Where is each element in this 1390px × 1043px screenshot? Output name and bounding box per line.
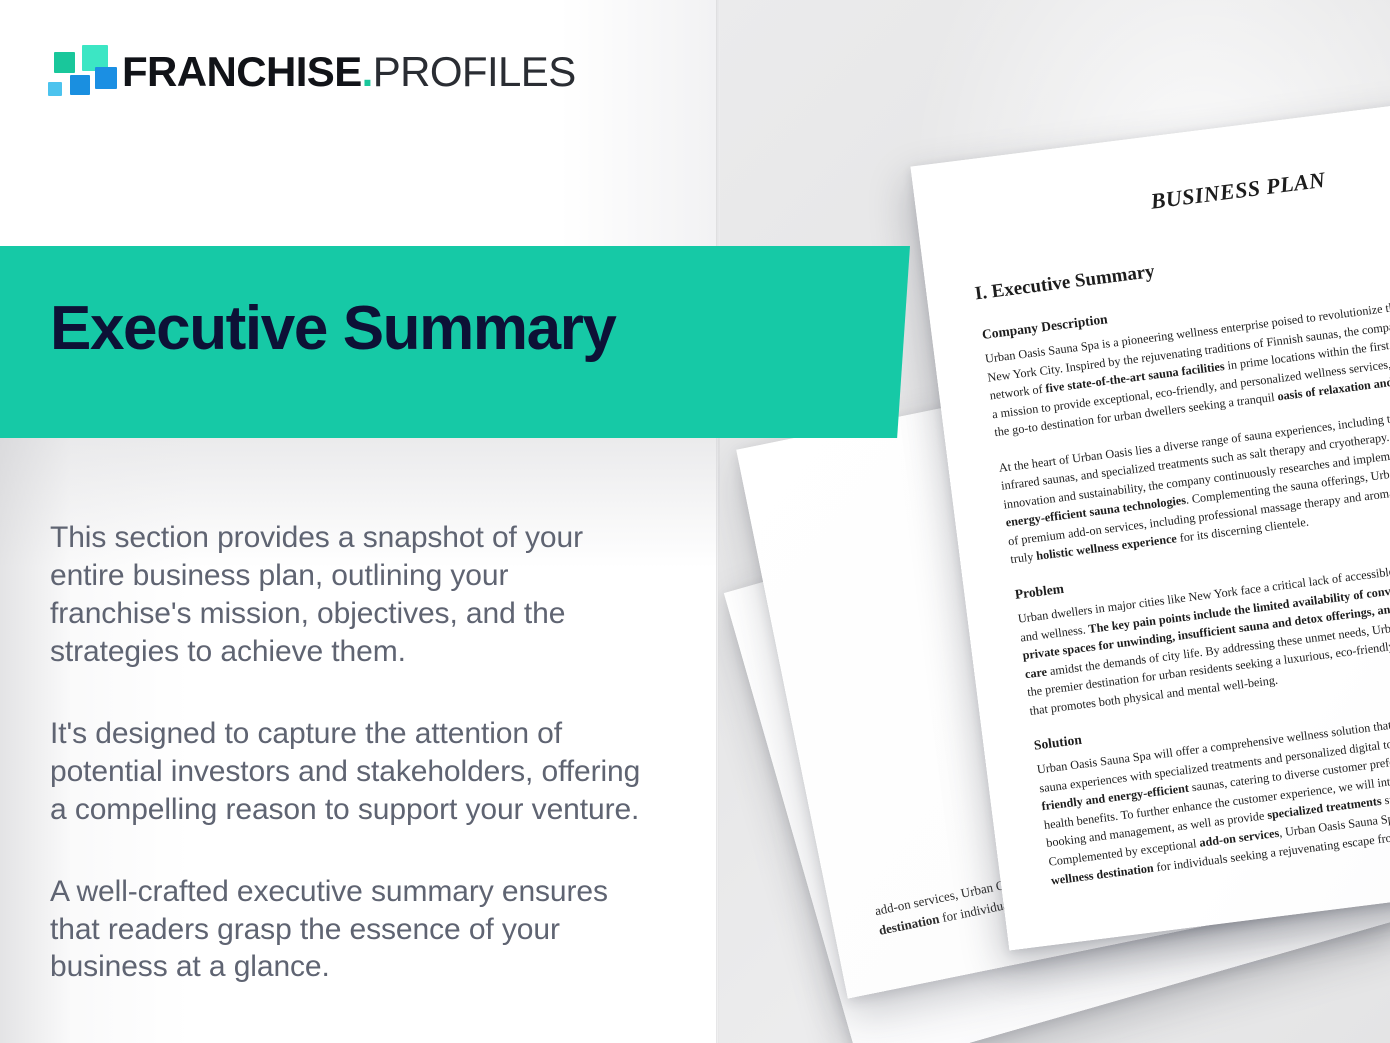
logo-square-1 bbox=[54, 52, 75, 73]
logo-squares-icon bbox=[46, 44, 106, 100]
logo-square-5 bbox=[95, 67, 117, 89]
document-title: BUSINESS PLAN bbox=[955, 142, 1390, 239]
body-paragraph-2: It's designed to capture the attention o… bbox=[50, 715, 650, 829]
brand-logo[interactable]: FRANCHISE.PROFILES bbox=[46, 44, 576, 100]
body-paragraph-3: A well-crafted executive summary ensures… bbox=[50, 873, 650, 987]
page-title: Executive Summary bbox=[50, 298, 616, 360]
logo-word-profiles: PROFILES bbox=[373, 51, 576, 93]
title-banner: Executive Summary bbox=[0, 246, 910, 438]
body-paragraph-1: This section provides a snapshot of your… bbox=[50, 519, 650, 671]
slide-canvas: add-on services, Urban Oasis Sauna Spa w… bbox=[0, 0, 1390, 1043]
document-section-company-description: Company Description Urban Oasis Sauna Sp… bbox=[969, 257, 1390, 570]
logo-wordmark: FRANCHISE.PROFILES bbox=[122, 51, 576, 93]
body-copy: This section provides a snapshot of your… bbox=[50, 519, 650, 986]
logo-square-3 bbox=[48, 82, 62, 96]
logo-word-dot: . bbox=[362, 51, 373, 93]
document-stack: add-on services, Urban Oasis Sauna Spa w… bbox=[718, 0, 1390, 1043]
logo-square-4 bbox=[70, 75, 90, 95]
logo-word-franchise: FRANCHISE bbox=[122, 51, 362, 93]
